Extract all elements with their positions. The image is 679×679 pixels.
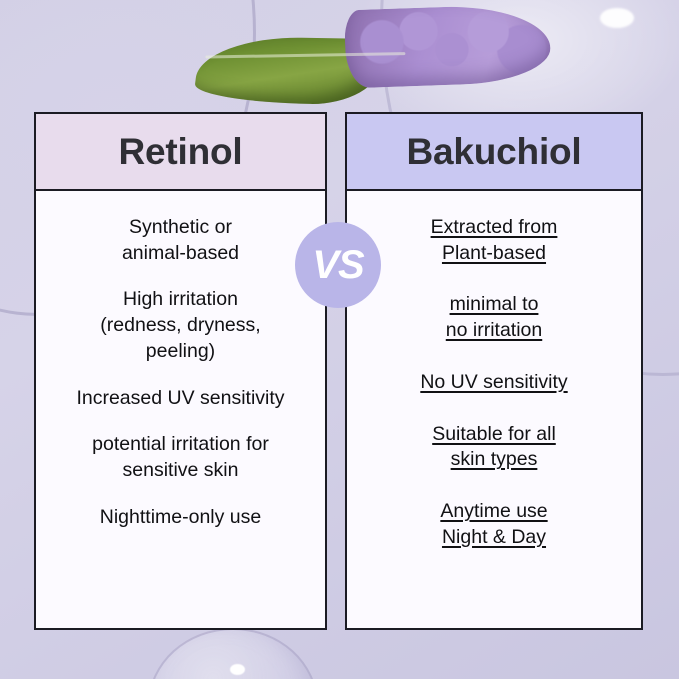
feature-item: potential irritation for sensitive skin — [92, 432, 269, 483]
water-bubble-highlight — [230, 664, 245, 675]
comparison-card-bakuchiol: Bakuchiol Extracted from Plant-based min… — [345, 112, 643, 630]
infographic-canvas: Retinol Synthetic or animal-based High i… — [0, 0, 679, 679]
feature-line: Night & Day — [440, 525, 547, 551]
vs-badge: VS — [295, 222, 381, 308]
light-reflection-icon — [600, 8, 634, 28]
feature-line: potential irritation for — [92, 432, 269, 458]
feature-item: No UV sensitivity — [420, 370, 567, 396]
feature-line: Synthetic or — [122, 215, 239, 241]
feature-line: No UV sensitivity — [420, 370, 567, 396]
feature-item: High irritation (redness, dryness, peeli… — [100, 287, 260, 364]
feature-item: Increased UV sensitivity — [76, 386, 284, 412]
feature-line: Anytime use — [440, 499, 547, 525]
feature-line: skin types — [432, 447, 556, 473]
feature-line: Extracted from — [431, 215, 558, 241]
feature-item: Anytime use Night & Day — [440, 499, 547, 550]
leaf-purple-part — [344, 3, 552, 88]
feature-item: Synthetic or animal-based — [122, 215, 239, 266]
feature-line: minimal to — [446, 292, 542, 318]
card-body-retinol: Synthetic or animal-based High irritatio… — [36, 191, 325, 628]
vs-badge-label: VS — [312, 245, 363, 285]
feature-line: Nighttime-only use — [100, 505, 261, 531]
card-title-retinol: Retinol — [119, 133, 243, 170]
card-body-bakuchiol: Extracted from Plant-based minimal to no… — [347, 191, 641, 628]
feature-line: peeling) — [100, 339, 260, 365]
feature-item: Nighttime-only use — [100, 505, 261, 531]
comparison-card-retinol: Retinol Synthetic or animal-based High i… — [34, 112, 327, 630]
feature-item: Suitable for all skin types — [432, 422, 556, 473]
feature-line: sensitive skin — [92, 458, 269, 484]
card-header-bakuchiol: Bakuchiol — [347, 114, 641, 191]
feature-line: Suitable for all — [432, 422, 556, 448]
feature-line: (redness, dryness, — [100, 313, 260, 339]
feature-line: Plant-based — [431, 241, 558, 267]
feature-line: no irritation — [446, 318, 542, 344]
card-title-bakuchiol: Bakuchiol — [406, 133, 581, 170]
feature-item: minimal to no irritation — [446, 292, 542, 343]
feature-item: Extracted from Plant-based — [431, 215, 558, 266]
card-header-retinol: Retinol — [36, 114, 325, 191]
feature-line: High irritation — [100, 287, 260, 313]
feature-line: Increased UV sensitivity — [76, 386, 284, 412]
feature-line: animal-based — [122, 241, 239, 267]
